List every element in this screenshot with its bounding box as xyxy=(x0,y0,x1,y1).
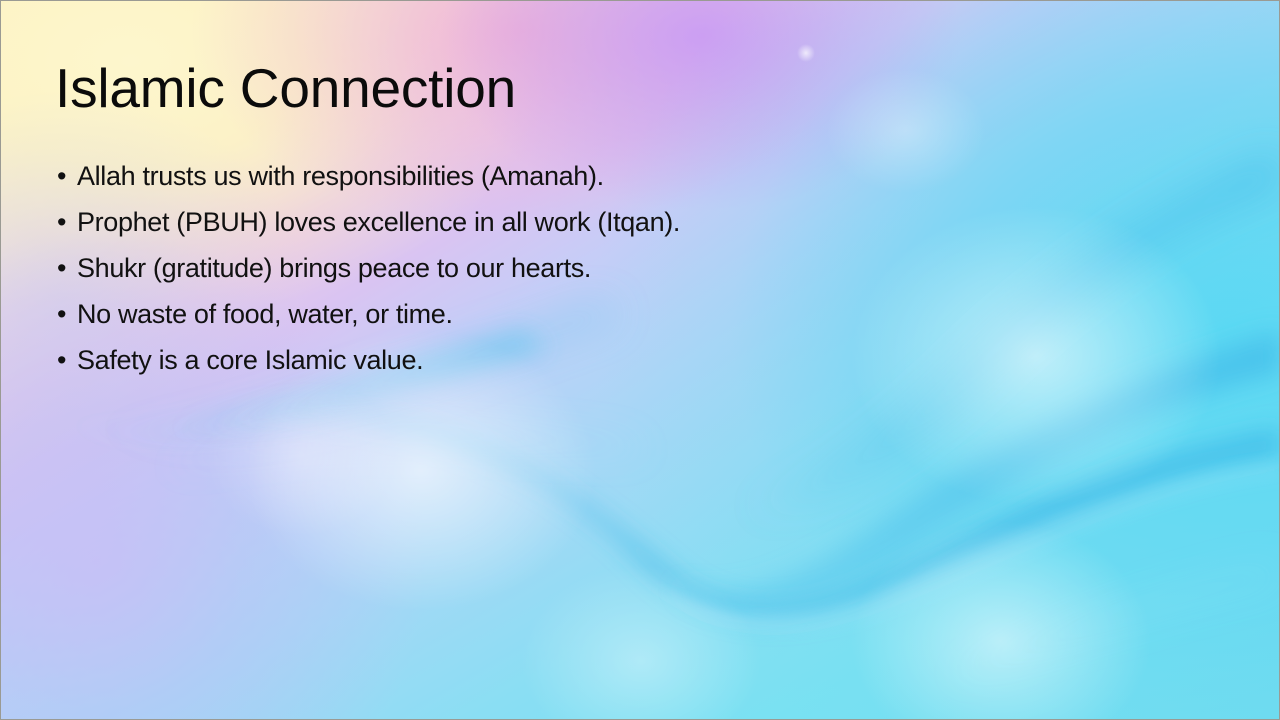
list-item: • No waste of food, water, or time. xyxy=(57,291,1117,337)
list-item: • Shukr (gratitude) brings peace to our … xyxy=(57,245,1117,291)
bullet-point-icon: • xyxy=(57,245,77,291)
list-item: • Safety is a core Islamic value. xyxy=(57,337,1117,383)
list-item: • Allah trusts us with responsibilities … xyxy=(57,153,1117,199)
list-item-label: Allah trusts us with responsibilities (A… xyxy=(77,153,604,199)
list-item-label: Prophet (PBUH) loves excellence in all w… xyxy=(77,199,680,245)
list-item-label: No waste of food, water, or time. xyxy=(77,291,453,337)
bullet-point-icon: • xyxy=(57,153,77,199)
list-item: • Prophet (PBUH) loves excellence in all… xyxy=(57,199,1117,245)
slide-content: Islamic Connection • Allah trusts us wit… xyxy=(1,1,1279,719)
presentation-slide: Islamic Connection • Allah trusts us wit… xyxy=(0,0,1280,720)
bullet-list: • Allah trusts us with responsibilities … xyxy=(57,153,1117,383)
slide-title: Islamic Connection xyxy=(55,57,516,119)
list-item-label: Shukr (gratitude) brings peace to our he… xyxy=(77,245,591,291)
list-item-label: Safety is a core Islamic value. xyxy=(77,337,423,383)
bullet-point-icon: • xyxy=(57,291,77,337)
bullet-point-icon: • xyxy=(57,199,77,245)
bullet-point-icon: • xyxy=(57,337,77,383)
